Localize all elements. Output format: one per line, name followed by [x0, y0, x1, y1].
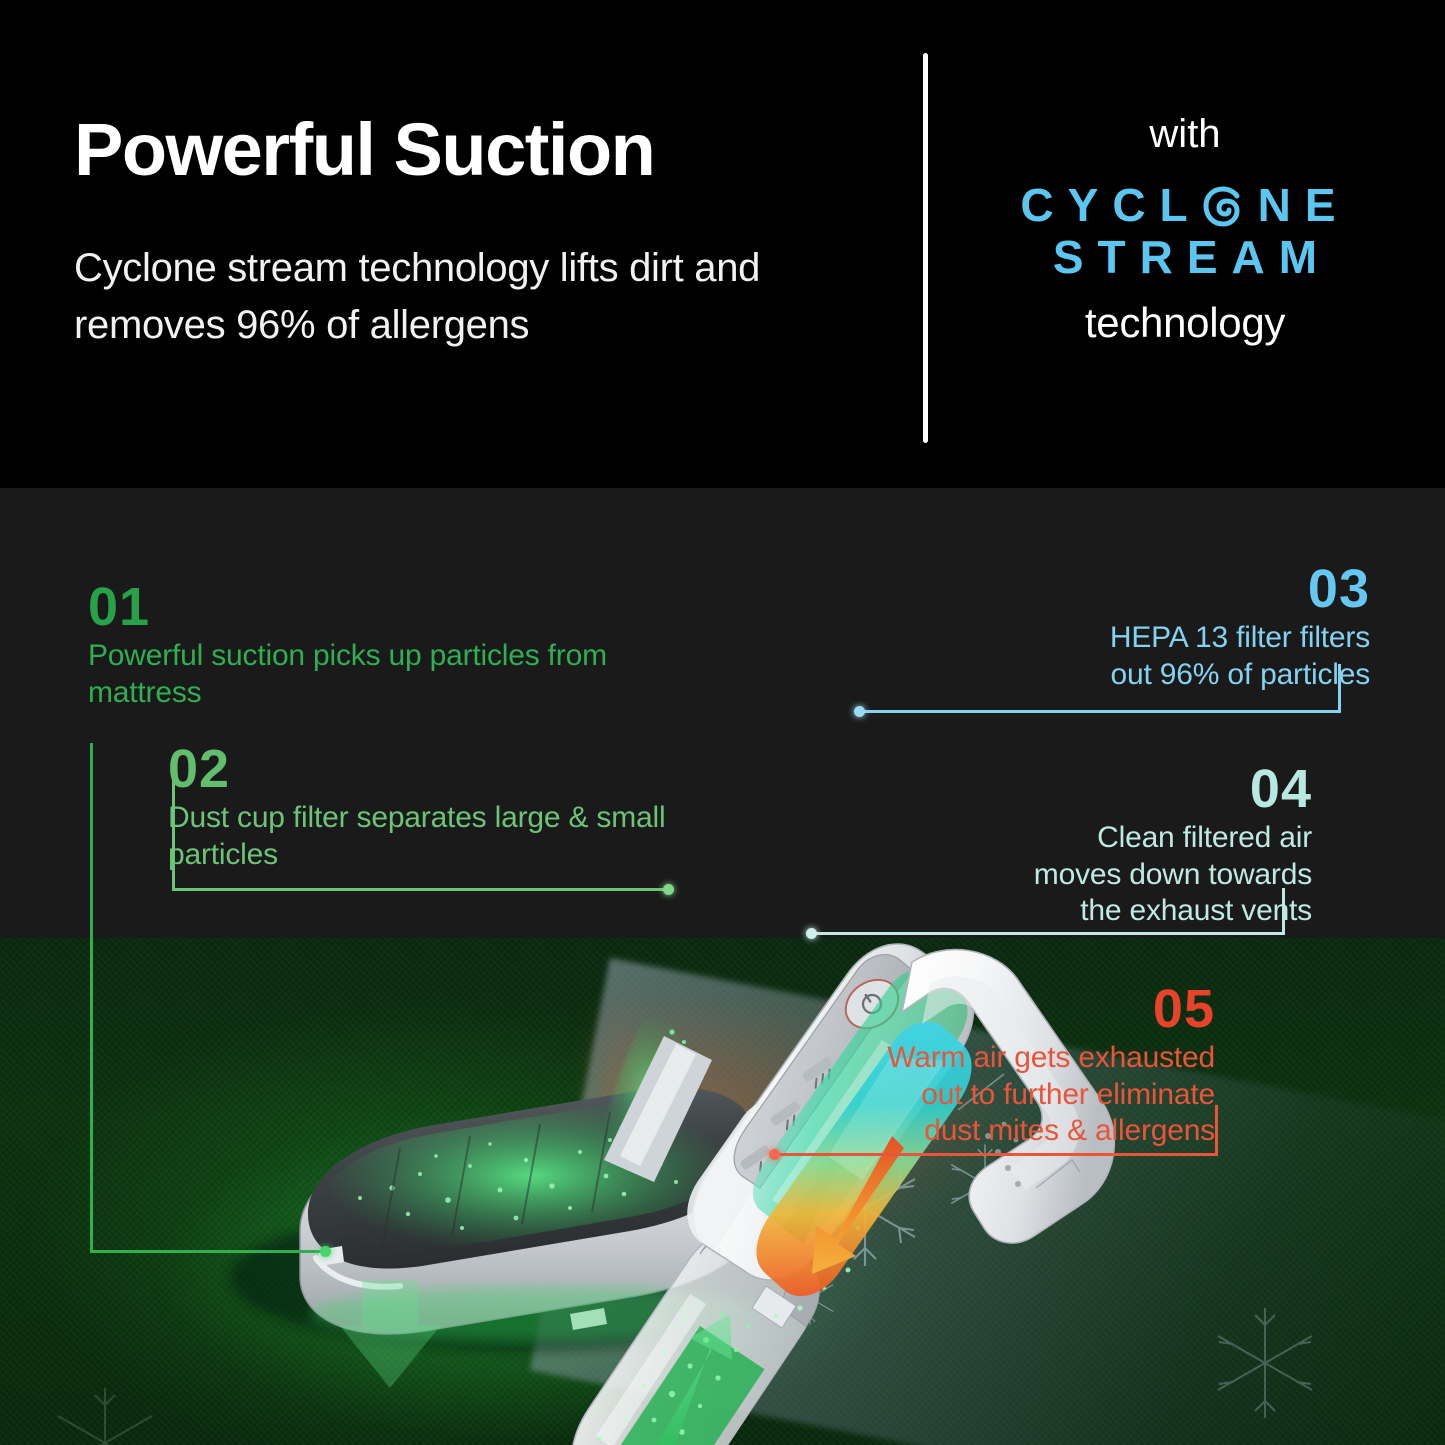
callout-02-number: 02	[168, 742, 688, 796]
logo-cyclone-part-a: CYCL	[1020, 180, 1201, 232]
callout-04-number: 04	[1020, 762, 1312, 816]
callout-05-number: 05	[860, 982, 1215, 1036]
header-section: Powerful Suction Cyclone stream technolo…	[0, 0, 1445, 488]
page-title: Powerful Suction	[74, 113, 874, 187]
callout-03: 03 HEPA 13 filter filters out 96% of par…	[1080, 562, 1370, 693]
logo-with-label: with	[950, 110, 1420, 158]
logo-technology-label: technology	[950, 299, 1420, 347]
callout-02: 02 Dust cup filter separates large & sma…	[168, 742, 688, 873]
callout-03-text: HEPA 13 filter filters out 96% of partic…	[1080, 620, 1370, 693]
callout-05-text: Warm air gets exhausted out to further e…	[860, 1040, 1215, 1150]
logo-cyclone-line: CYCL NE	[950, 180, 1420, 232]
vertical-divider	[923, 53, 928, 443]
callout-01-number: 01	[88, 580, 648, 634]
callout-03-number: 03	[1080, 562, 1370, 616]
brand-logo: with CYCL NE STREAM technology	[950, 110, 1420, 347]
infographic-page: Powerful Suction Cyclone stream technolo…	[0, 0, 1445, 1445]
callout-04-text: Clean filtered air moves down towards th…	[1020, 820, 1312, 930]
callout-01: 01 Powerful suction picks up particles f…	[88, 580, 648, 711]
logo-cyclone-part-b: NE	[1258, 180, 1350, 232]
page-subtitle: Cyclone stream technology lifts dirt and…	[74, 240, 864, 354]
callout-04: 04 Clean filtered air moves down towards…	[1020, 762, 1312, 930]
logo-stream-line: STREAM	[950, 232, 1420, 284]
callout-02-text: Dust cup filter separates large & small …	[168, 800, 688, 873]
callout-05: 05 Warm air gets exhausted out to furthe…	[860, 982, 1215, 1150]
cyclone-swirl-icon	[1202, 183, 1244, 229]
callout-01-text: Powerful suction picks up particles from…	[88, 638, 648, 711]
